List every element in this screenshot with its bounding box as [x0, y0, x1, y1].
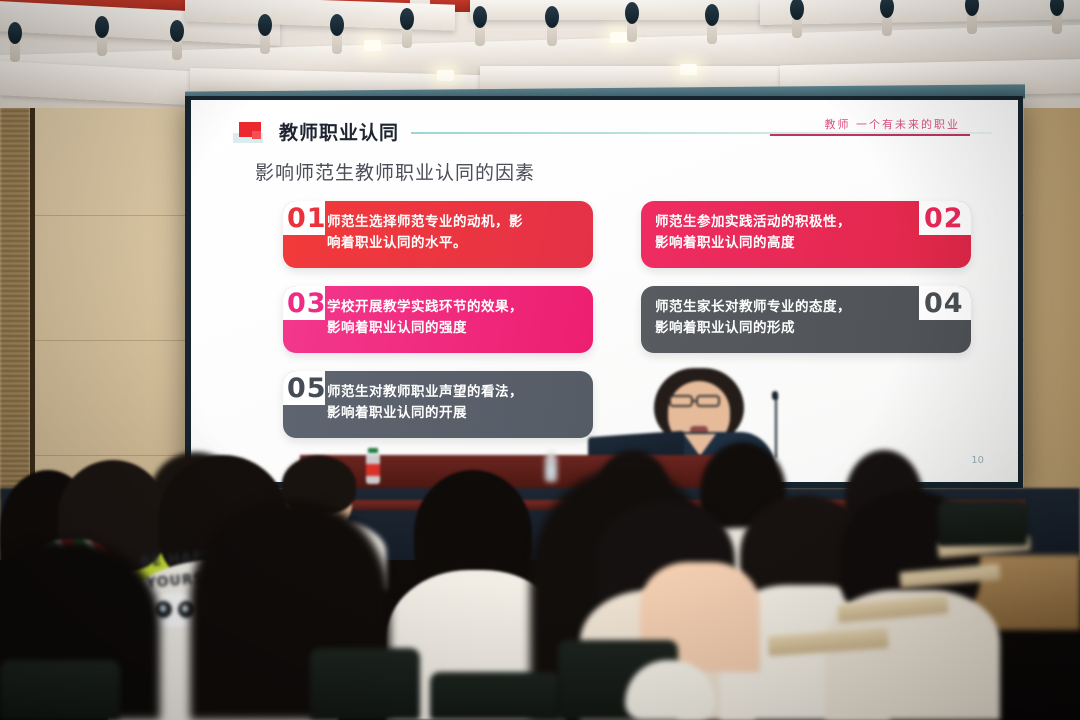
track-light	[8, 22, 22, 62]
factor-number-05: 05	[287, 373, 327, 404]
factor-card-02-line2: 影响着职业认同的高度	[655, 233, 911, 254]
seat-back	[430, 672, 560, 720]
factor-card-03: 学校开展教学实践环节的效果， 影响着职业认同的强度	[283, 286, 593, 353]
red-flag-logo-icon	[233, 122, 267, 146]
seat-back	[0, 660, 120, 720]
factor-card-list: 师范生选择师范专业的动机，影 响着职业认同的水平。 01 师范生参加实践活动的积…	[221, 201, 992, 442]
factor-card-04-line2: 影响着职业认同的形成	[655, 318, 911, 339]
presentation-slide: 教师职业认同 教师 一个有未来的职业 影响师范生教师职业认同的因素 师范生选择师…	[191, 100, 1018, 482]
ceiling-slab	[470, 0, 770, 20]
water-bottle-icon	[366, 448, 380, 484]
track-light	[545, 6, 559, 46]
microphone-head-icon	[772, 391, 778, 400]
factor-card-01: 师范生选择师范专业的动机，影 响着职业认同的水平。	[283, 201, 593, 268]
factor-number-03: 03	[287, 288, 327, 319]
right-wall	[1024, 95, 1080, 500]
factor-card-04-line1: 师范生家长对教师专业的态度，	[655, 297, 911, 318]
track-light	[258, 14, 272, 54]
card-row: 师范生选择师范专业的动机，影 响着职业认同的水平。 01 师范生参加实践活动的积…	[221, 201, 992, 272]
factor-card-04: 师范生家长对教师专业的态度， 影响着职业认同的形成	[641, 286, 971, 353]
card-row: 师范生对教师职业声望的看法， 影响着职业认同的开展 05	[221, 371, 992, 442]
factor-card-02-line1: 师范生参加实践活动的积极性，	[655, 212, 911, 233]
track-light	[400, 8, 414, 48]
ceiling-slab	[760, 0, 1080, 25]
seat-back	[310, 648, 420, 720]
card-row: 学校开展教学实践环节的效果， 影响着职业认同的强度 03 师范生家长对教师专业的…	[221, 286, 992, 357]
factor-number-04: 04	[924, 288, 964, 319]
seat-back	[938, 500, 1028, 546]
track-light	[473, 6, 487, 46]
track-light	[790, 0, 804, 38]
track-light	[705, 4, 719, 44]
track-light	[170, 20, 184, 60]
ceiling-downlight	[680, 64, 697, 75]
eyeglasses-icon	[669, 395, 693, 407]
factor-card-05: 师范生对教师职业声望的看法， 影响着职业认同的开展	[283, 371, 593, 438]
track-light	[880, 0, 894, 36]
factor-number-02: 02	[924, 203, 964, 234]
track-light	[95, 16, 109, 56]
slide-subtitle: 影响师范生教师职业认同的因素	[255, 158, 992, 185]
projection-screen: 教师职业认同 教师 一个有未来的职业 影响师范生教师职业认同的因素 师范生选择师…	[191, 100, 1018, 482]
track-light	[330, 14, 344, 54]
factor-card-02: 师范生参加实践活动的积极性， 影响着职业认同的高度	[641, 201, 971, 268]
water-bottle-icon	[545, 452, 557, 482]
slide-header: 教师职业认同 教师 一个有未来的职业	[221, 118, 992, 154]
slide-title: 教师职业认同	[279, 118, 399, 145]
eyeglasses-icon	[696, 395, 720, 407]
factor-card-05-line1: 师范生对教师职业声望的看法，	[327, 382, 581, 403]
factor-card-03-line1: 学校开展教学实践环节的效果，	[327, 297, 581, 318]
lecture-hall-photo: 教师职业认同 教师 一个有未来的职业 影响师范生教师职业认同的因素 师范生选择师…	[0, 0, 1080, 720]
track-light	[965, 0, 979, 34]
slide-page-number: 10	[971, 455, 984, 466]
factor-card-03-line2: 影响着职业认同的强度	[327, 318, 581, 339]
factor-card-01-line1: 师范生选择师范专业的动机，影	[327, 212, 581, 233]
track-light	[625, 2, 639, 42]
ceiling-downlight	[364, 40, 381, 51]
slide-header-right-text: 教师 一个有未来的职业	[825, 116, 961, 132]
track-light	[1050, 0, 1064, 34]
factor-number-01: 01	[287, 203, 327, 234]
header-right-divider	[770, 134, 970, 136]
ceiling-downlight	[437, 70, 454, 81]
factor-card-01-line2: 响着职业认同的水平。	[327, 233, 581, 254]
microphone-icon	[775, 396, 777, 458]
factor-card-05-line2: 影响着职业认同的开展	[327, 403, 581, 424]
projection-screen-frame: 教师职业认同 教师 一个有未来的职业 影响师范生教师职业认同的因素 师范生选择师…	[185, 96, 1023, 488]
